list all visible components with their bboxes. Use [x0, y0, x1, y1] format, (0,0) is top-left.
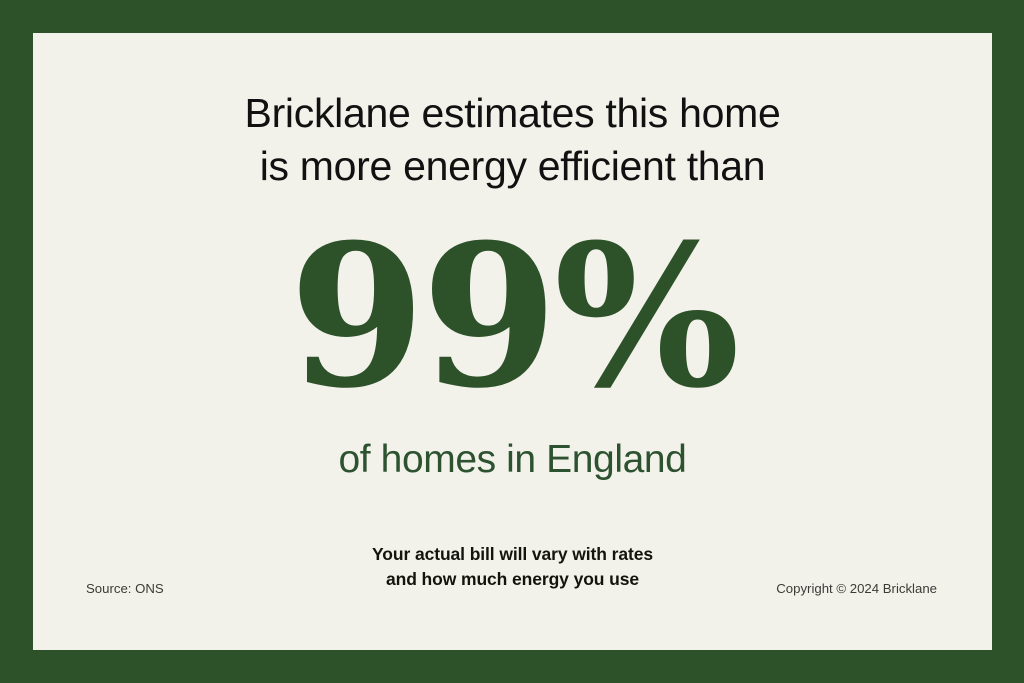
headline: Bricklane estimates this home is more en…	[33, 87, 992, 193]
statistic-value: 99%	[289, 219, 736, 415]
statistic-caption: of homes in England	[33, 436, 992, 484]
headline-line-2: is more energy efficient than	[33, 140, 992, 193]
disclaimer-line-1: Your actual bill will vary with rates	[33, 542, 992, 567]
statistic-container: 99%	[33, 219, 992, 415]
source-attribution: Source: ONS	[86, 579, 164, 599]
footer: Source: ONS Copyright © 2024 Bricklane	[86, 579, 937, 599]
infographic-card: Bricklane estimates this home is more en…	[0, 0, 1024, 683]
headline-line-1: Bricklane estimates this home	[33, 87, 992, 140]
copyright-notice: Copyright © 2024 Bricklane	[776, 579, 937, 599]
content-card: Bricklane estimates this home is more en…	[33, 33, 992, 650]
